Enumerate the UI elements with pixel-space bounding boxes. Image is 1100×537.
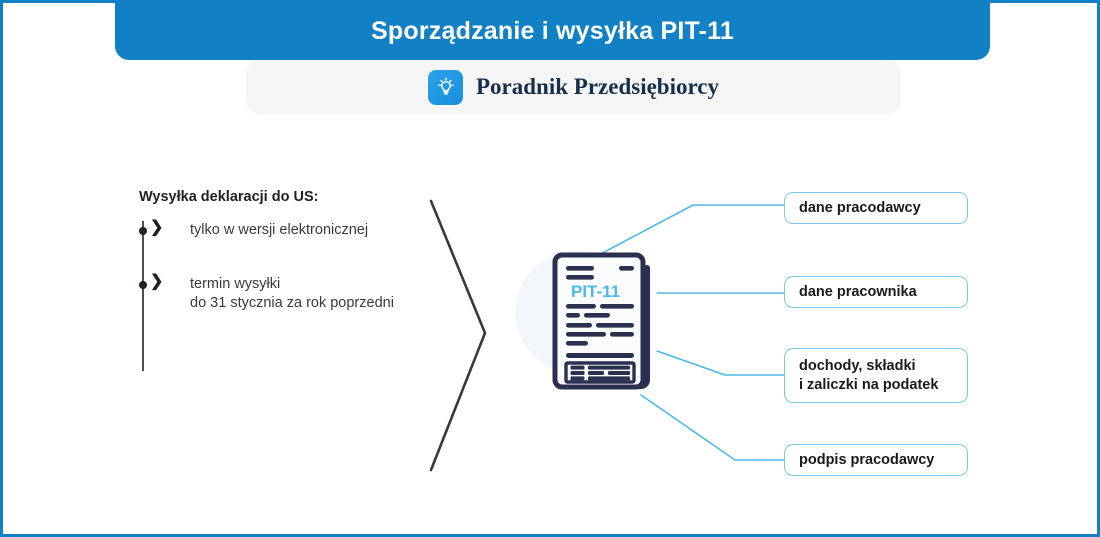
label-text: dane pracodawcy bbox=[799, 199, 921, 218]
label-text: podpis pracodawcy bbox=[799, 451, 934, 470]
list-item-line2: do 31 stycznia za rok poprzedni bbox=[190, 294, 394, 313]
bullet-dot-icon bbox=[139, 227, 147, 235]
timeline-list: ❯ tylko w wersji elektronicznej ❯ termin… bbox=[139, 221, 429, 313]
brand-strip: Poradnik Przedsiębiorcy bbox=[246, 60, 901, 114]
list-item: ❯ tylko w wersji elektronicznej bbox=[139, 221, 429, 241]
list-item-text: termin wysyłki do 31 stycznia za rok pop… bbox=[174, 275, 394, 313]
connector-line-3 bbox=[641, 395, 784, 460]
chevron-right-icon: ❯ bbox=[150, 272, 163, 292]
page-title: Sporządzanie i wysyłka PIT-11 bbox=[371, 17, 734, 46]
list-item-line1: tylko w wersji elektronicznej bbox=[190, 222, 368, 238]
header-bar: Sporządzanie i wysyłka PIT-11 bbox=[115, 0, 990, 60]
large-chevron-icon bbox=[423, 193, 503, 478]
infographic-canvas: Sporządzanie i wysyłka PIT-11 Poradnik P… bbox=[0, 0, 1100, 537]
label-box-podpis-pracodawcy[interactable]: podpis pracodawcy bbox=[784, 444, 968, 476]
connector-line-0 bbox=[593, 205, 784, 258]
pit11-document-icon: PIT-11 bbox=[552, 252, 654, 394]
bullet-marker: ❯ bbox=[139, 221, 165, 241]
bullet-marker: ❯ bbox=[139, 275, 165, 295]
label-box-dane-pracodawcy[interactable]: dane pracodawcy bbox=[784, 192, 968, 224]
label-text: dochody, składki i zaliczki na podatek bbox=[799, 357, 938, 395]
list-item: ❯ termin wysyłki do 31 stycznia za rok p… bbox=[139, 275, 429, 313]
left-panel-heading: Wysyłka deklaracji do US: bbox=[139, 189, 429, 205]
list-item-text: tylko w wersji elektronicznej bbox=[174, 221, 368, 240]
label-text: dane pracownika bbox=[799, 283, 917, 302]
label-box-dane-pracownika[interactable]: dane pracownika bbox=[784, 276, 968, 308]
lightbulb-icon bbox=[428, 70, 463, 105]
left-panel: Wysyłka deklaracji do US: ❯ tylko w wers… bbox=[139, 189, 429, 313]
bullet-dot-icon bbox=[139, 281, 147, 289]
label-box-dochody-skladki[interactable]: dochody, składki i zaliczki na podatek bbox=[784, 348, 968, 403]
list-item-line1: termin wysyłki bbox=[190, 276, 280, 292]
brand-name: Poradnik Przedsiębiorcy bbox=[476, 74, 719, 100]
chevron-right-icon: ❯ bbox=[150, 218, 163, 238]
connector-line-2 bbox=[657, 351, 784, 375]
document-label: PIT-11 bbox=[571, 282, 620, 301]
